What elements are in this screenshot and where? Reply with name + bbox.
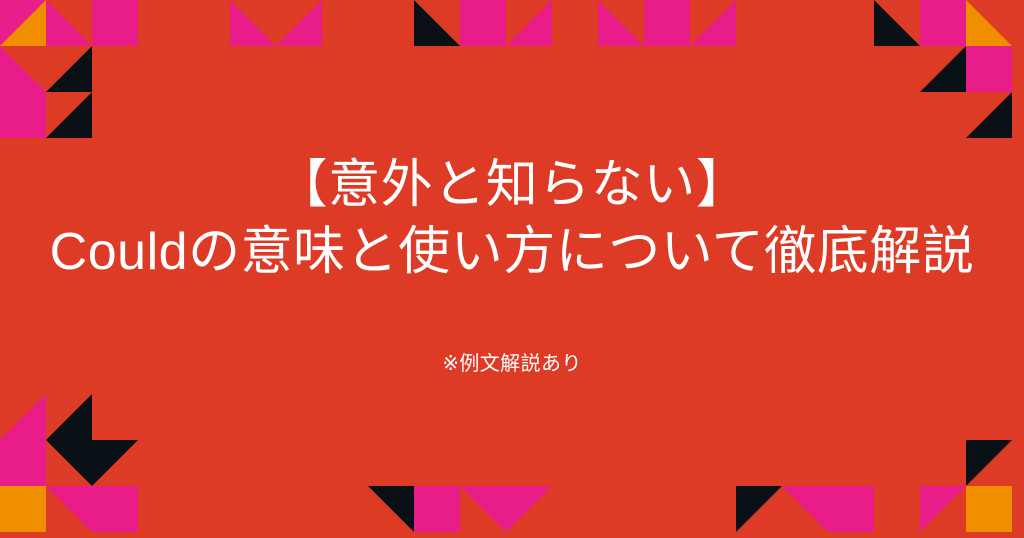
title-content: 【意外と知らない】 Couldの意味と使い方について徹底解説 ※例文解説あり bbox=[0, 0, 1024, 538]
subtitle: ※例文解説あり bbox=[0, 347, 1024, 376]
title-card: 【意外と知らない】 Couldの意味と使い方について徹底解説 ※例文解説あり bbox=[0, 0, 1024, 538]
page-title: 【意外と知らない】 Couldの意味と使い方について徹底解説 bbox=[0, 152, 1024, 285]
title-line-1: 【意外と知らない】 bbox=[0, 152, 1024, 219]
title-line-2: Couldの意味と使い方について徹底解説 bbox=[0, 219, 1024, 286]
